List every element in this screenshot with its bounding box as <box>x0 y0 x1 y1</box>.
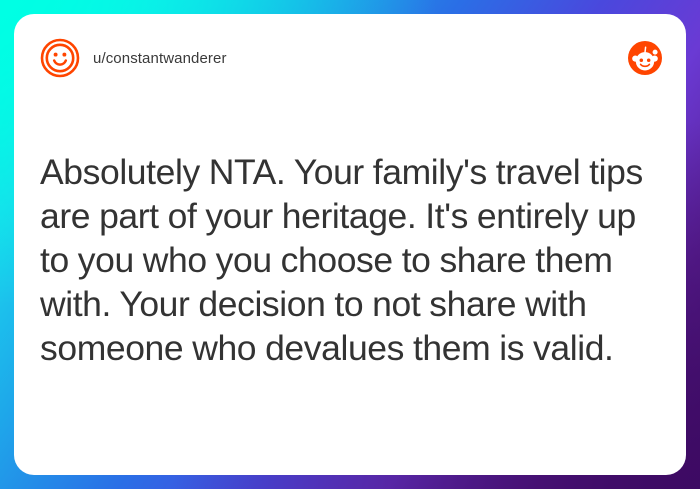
post-body: Absolutely NTA. Your family's travel tip… <box>40 150 664 370</box>
post-text: Absolutely NTA. Your family's travel tip… <box>40 150 664 370</box>
reddit-post-card: u/constantwanderer Absolutely NTA. Your … <box>14 14 686 475</box>
username-label: u/constantwanderer <box>93 50 227 67</box>
reddit-snoo-icon <box>628 41 662 75</box>
post-header: u/constantwanderer <box>14 14 686 102</box>
avatar[interactable] <box>40 38 80 78</box>
smiley-face-icon <box>40 38 80 78</box>
screenshot-stage: u/constantwanderer Absolutely NTA. Your … <box>0 0 700 489</box>
reddit-brand-logo[interactable] <box>628 41 662 75</box>
